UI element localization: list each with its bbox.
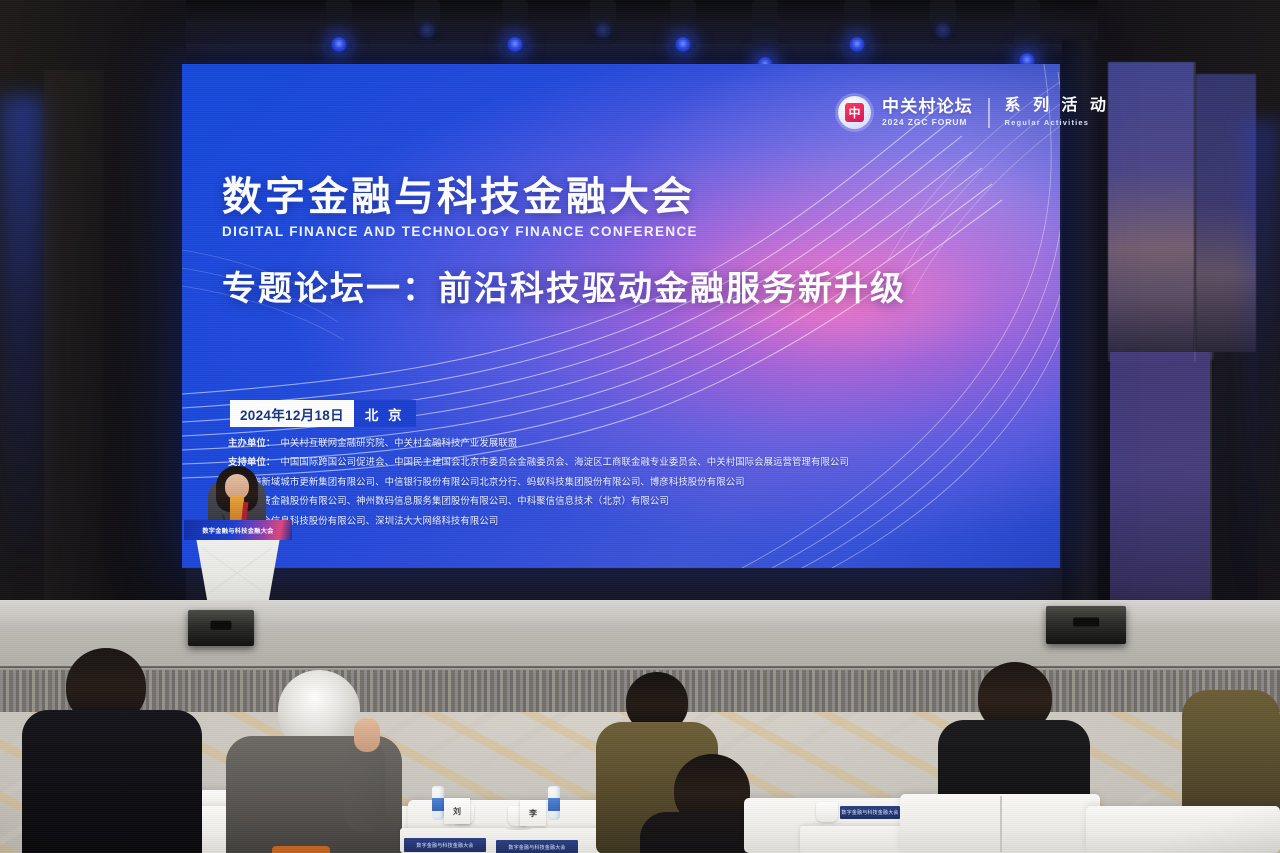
- table-nameplate: 数字金融与科技金融大会: [404, 838, 486, 852]
- teacup: [816, 802, 838, 822]
- wall-panel-lower-left: [1110, 352, 1210, 642]
- date-location-badge: 2024年12月18日 北 京: [230, 400, 416, 427]
- name-card-text: 李: [529, 808, 537, 819]
- audience-torso: [22, 710, 202, 853]
- stage-light-icon: [930, 0, 956, 40]
- table-nameplate: 数字金融与科技金融大会: [496, 840, 578, 853]
- table-nameplate-text: 数字金融与科技金融大会: [508, 844, 565, 851]
- water-bottle: [548, 786, 560, 820]
- left-wall-glow: [0, 96, 44, 566]
- name-card: 刘: [444, 798, 470, 824]
- organizer-credits: 主办单位：中关村互联网金融研究院、中关村金融科技产业发展联盟 支持单位：中国国际…: [228, 438, 908, 535]
- stage-monitor-speaker: [1046, 606, 1126, 644]
- forum-logo-mark: 中: [845, 103, 864, 122]
- table-nameplate-text: 数字金融与科技金融大会: [841, 809, 898, 816]
- podium-banner-text: 数字金融与科技金融大会: [202, 526, 273, 535]
- left-wall-column: [44, 70, 104, 630]
- table-nameplate-text: 数字金融与科技金融大会: [416, 842, 473, 849]
- forum-logo-badge-icon: 中: [838, 96, 871, 129]
- audience-scarf: [272, 846, 330, 853]
- conference-title-cn: 数字金融与科技金融大会: [222, 176, 906, 219]
- wall-panel-upper-left: [1108, 62, 1194, 362]
- forum-logo-lockup: 中 中关村论坛 2024 ZGC FORUM 系 列 活 动 Regular A…: [838, 96, 1110, 129]
- speaker-and-podium: 数字金融与科技金融大会: [172, 462, 304, 612]
- stage-light-icon: [752, 0, 778, 74]
- forum-brand-block: 中关村论坛 2024 ZGC FORUM: [882, 98, 973, 128]
- conference-stage-photo: 中 中关村论坛 2024 ZGC FORUM 系 列 活 动 Regular A…: [0, 0, 1280, 853]
- event-city: 北 京: [354, 400, 416, 427]
- organizer-text: 北京海新域城市更新集团有限公司、中信银行股份有限公司北京分行、蚂蚁科技集团股份有…: [233, 476, 745, 487]
- stage-light-icon: [670, 0, 696, 54]
- name-card-text: 刘: [453, 806, 461, 817]
- stage-light-icon: [326, 0, 352, 54]
- right-wall-column: [1062, 40, 1102, 660]
- forum-brand-cn: 中关村论坛: [882, 98, 973, 116]
- organizer-text: 中国国际跨国公司促进会、中国民主建国会北京市委员会金融委员会、海淀区工商联金融专…: [280, 456, 849, 467]
- sofa-seam: [1000, 796, 1002, 852]
- panel-seam: [1194, 62, 1196, 362]
- stage-light-icon: [1014, 0, 1040, 70]
- stage-light-icon: [502, 0, 528, 54]
- monitor-grille: [1073, 617, 1099, 626]
- podium-banner: 数字金融与科技金融大会: [184, 520, 292, 540]
- stage-light-icon: [590, 0, 616, 40]
- organizer-line: 上海合合信息科技股份有限公司、深圳法大大网络科技有限公司: [228, 516, 908, 525]
- organizer-line: 马上消费金融股份有限公司、神州数码信息服务集团股份有限公司、中科聚信信息技术（北…: [228, 496, 908, 505]
- series-label-cn: 系 列 活 动: [1005, 98, 1110, 115]
- organizer-label: 主办单位：: [228, 437, 275, 448]
- organizer-line: 北京海新域城市更新集团有限公司、中信银行股份有限公司北京分行、蚂蚁科技集团股份有…: [228, 477, 908, 486]
- organizer-line: 主办单位：中关村互联网金融研究院、中关村金融科技产业发展联盟: [228, 438, 908, 447]
- organizer-line: 支持单位：中国国际跨国公司促进会、中国民主建国会北京市委员会金融委员会、海淀区工…: [228, 457, 908, 466]
- headline-block: 数字金融与科技金融大会 DIGITAL FINANCE AND TECHNOLO…: [222, 176, 906, 310]
- event-date: 2024年12月18日: [230, 400, 354, 427]
- logo-divider: [988, 98, 990, 128]
- name-card: 李: [520, 800, 546, 826]
- right-wall-glow: [1244, 120, 1280, 600]
- stage-light-icon: [414, 0, 440, 40]
- table-nameplate: 数字金融与科技金融大会: [840, 806, 900, 819]
- series-label-en: Regular Activities: [1005, 118, 1110, 127]
- organizer-text: 中关村互联网金融研究院、中关村金融科技产业发展联盟: [280, 437, 517, 448]
- audience-arm: [344, 740, 386, 832]
- forum-brand-en: 2024 ZGC FORUM: [882, 117, 973, 127]
- stage-light-icon: [844, 0, 870, 54]
- sofa: [1086, 806, 1280, 853]
- bottle-label: [432, 798, 444, 811]
- water-bottle: [432, 786, 444, 820]
- series-block: 系 列 活 动 Regular Activities: [1005, 98, 1110, 127]
- forum-subtitle: 专题论坛一：前沿科技驱动金融服务新升级: [222, 261, 906, 310]
- audience-hand: [354, 718, 380, 752]
- stage-monitor-speaker: [188, 610, 254, 646]
- audience-member: [226, 670, 418, 853]
- panel-seam: [1210, 352, 1212, 640]
- bottle-label: [548, 798, 560, 811]
- conference-title-en: DIGITAL FINANCE AND TECHNOLOGY FINANCE C…: [222, 224, 906, 239]
- monitor-grille: [210, 621, 231, 630]
- audience-member: [22, 648, 202, 853]
